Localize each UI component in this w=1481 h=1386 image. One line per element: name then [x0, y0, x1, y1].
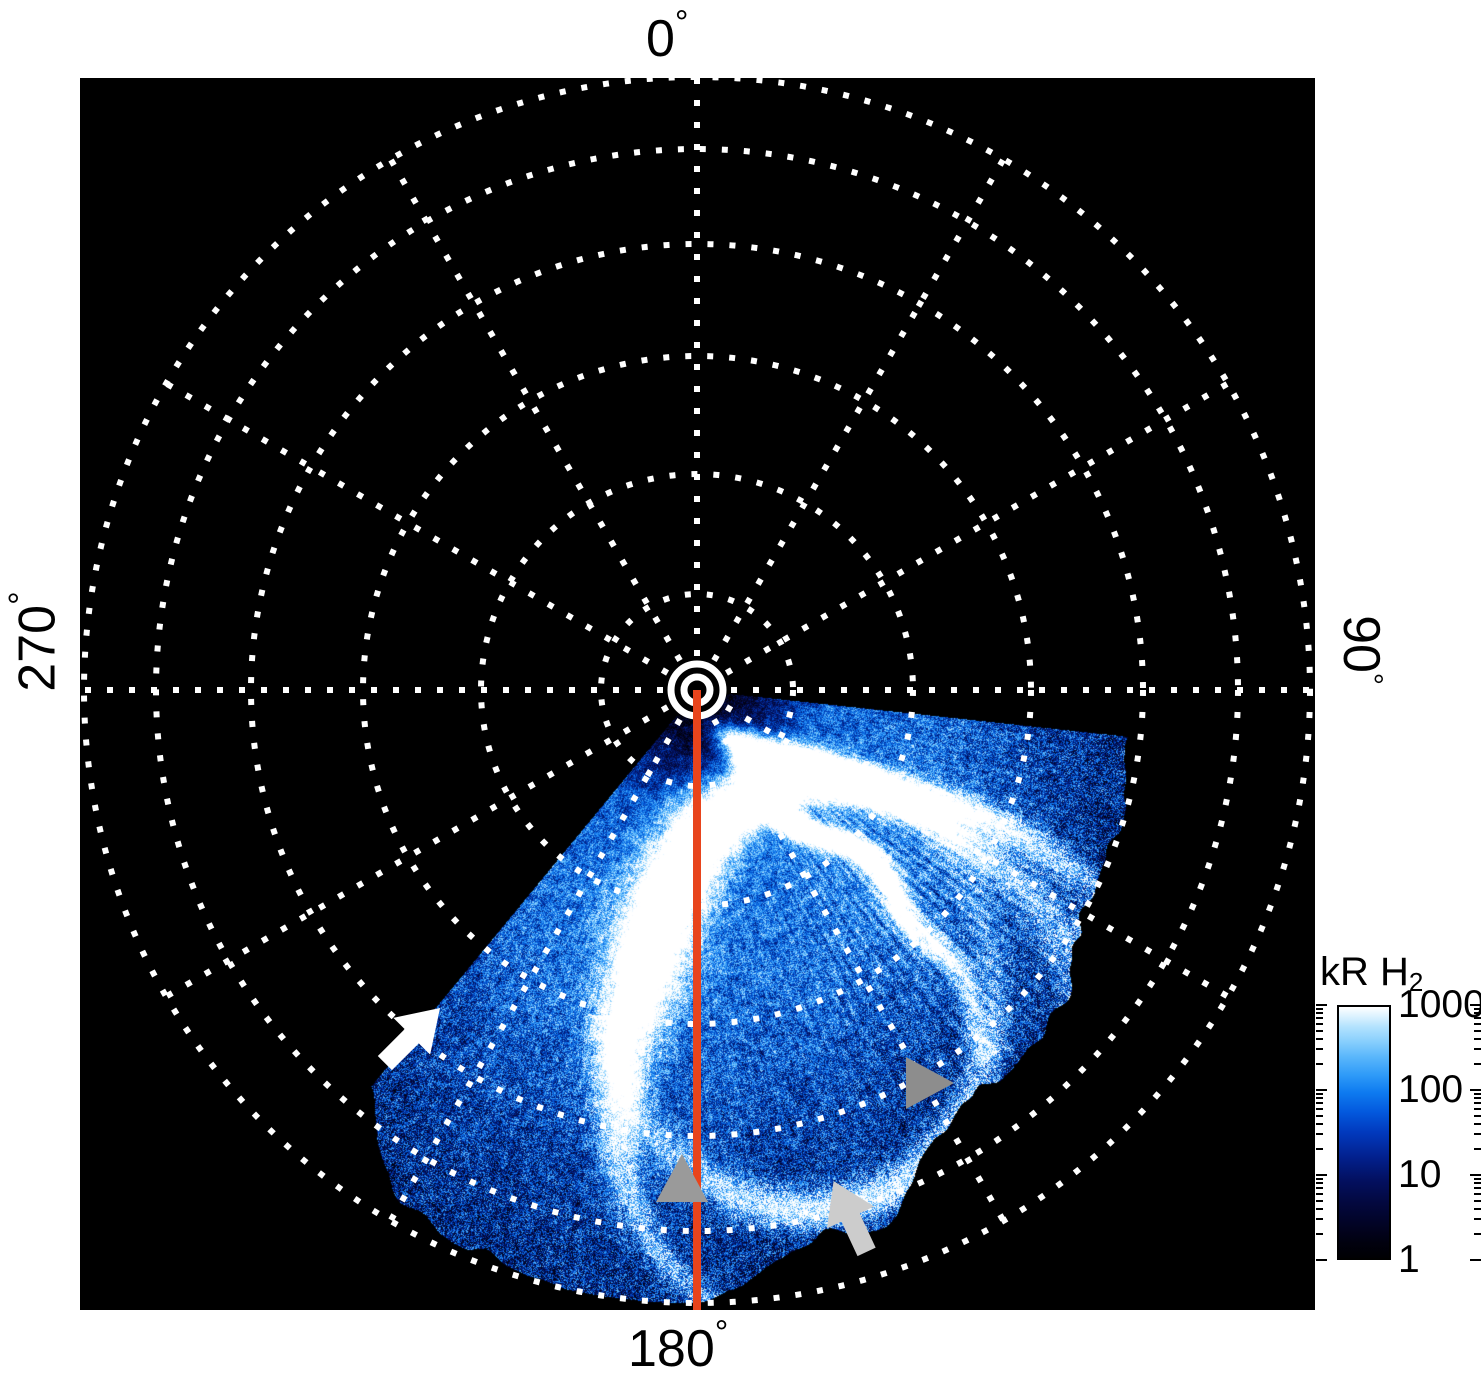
colorbar-minor-tick [1316, 1133, 1323, 1135]
colorbar-minor-tick [1316, 1030, 1323, 1032]
axis-label-270deg: 270° [5, 591, 64, 691]
colorbar-major-tick [1470, 1174, 1481, 1176]
colorbar-minor-tick [1474, 1063, 1481, 1065]
colorbar-minor-tick [1474, 1208, 1481, 1210]
colorbar-tick-label: 1000 [1398, 985, 1481, 1024]
colorbar-minor-tick [1474, 1115, 1481, 1117]
colorbar-minor-tick [1474, 1108, 1481, 1110]
colorbar-minor-tick [1474, 1193, 1481, 1195]
colorbar-minor-tick [1474, 1038, 1481, 1040]
colorbar-major-tick [1316, 1174, 1327, 1176]
colorbar-tick-label: 1 [1398, 1240, 1420, 1279]
colorbar-minor-tick [1316, 1208, 1323, 1210]
colorbar-minor-tick [1474, 1148, 1481, 1150]
colorbar-minor-tick [1316, 1182, 1323, 1184]
colorbar-minor-tick [1316, 1178, 1323, 1180]
colorbar-minor-tick [1316, 1102, 1323, 1104]
figure-root: 0° 180° 270° 90° kR H2 1000100101 [0, 0, 1481, 1386]
colorbar-minor-tick [1474, 1048, 1481, 1050]
colorbar-minor-tick [1474, 1178, 1481, 1180]
colorbar-major-tick [1316, 1259, 1327, 1261]
colorbar-minor-tick [1316, 1017, 1323, 1019]
colorbar-minor-tick [1316, 1008, 1323, 1010]
colorbar-minor-tick [1316, 1123, 1323, 1125]
colorbar: kR H2 1000100101 [1316, 950, 1481, 1330]
colorbar-minor-tick [1316, 1108, 1323, 1110]
colorbar-box [1337, 1005, 1391, 1260]
axis-label-90deg: 90° [1335, 615, 1387, 685]
colorbar-minor-tick [1316, 1023, 1323, 1025]
colorbar-minor-tick [1474, 1200, 1481, 1202]
colorbar-minor-tick [1474, 1133, 1481, 1135]
colorbar-minor-tick [1316, 1038, 1323, 1040]
colorbar-minor-tick [1316, 1193, 1323, 1195]
colorbar-minor-tick [1474, 1218, 1481, 1220]
axis-label-180deg: 180° [628, 1316, 728, 1375]
colorbar-minor-tick [1474, 1123, 1481, 1125]
polar-plot-panel [80, 78, 1315, 1310]
colorbar-minor-tick [1316, 1218, 1323, 1220]
colorbar-major-tick [1316, 1004, 1327, 1006]
colorbar-tick-label: 10 [1398, 1155, 1441, 1194]
colorbar-minor-tick [1316, 1012, 1323, 1014]
colorbar-gradient [1339, 1007, 1389, 1258]
colorbar-minor-tick [1316, 1048, 1323, 1050]
colorbar-minor-tick [1316, 1093, 1323, 1095]
colorbar-minor-tick [1474, 1093, 1481, 1095]
polar-plot-canvas [80, 78, 1315, 1310]
colorbar-minor-tick [1474, 1187, 1481, 1189]
colorbar-minor-tick [1316, 1097, 1323, 1099]
colorbar-minor-tick [1316, 1148, 1323, 1150]
colorbar-minor-tick [1474, 1182, 1481, 1184]
colorbar-minor-tick [1474, 1097, 1481, 1099]
colorbar-minor-tick [1474, 1233, 1481, 1235]
colorbar-minor-tick [1316, 1115, 1323, 1117]
colorbar-minor-tick [1474, 1102, 1481, 1104]
colorbar-minor-tick [1316, 1200, 1323, 1202]
colorbar-minor-tick [1316, 1187, 1323, 1189]
colorbar-minor-tick [1474, 1030, 1481, 1032]
colorbar-minor-tick [1316, 1063, 1323, 1065]
colorbar-major-tick [1470, 1089, 1481, 1091]
colorbar-major-tick [1316, 1089, 1327, 1091]
colorbar-minor-tick [1316, 1233, 1323, 1235]
colorbar-major-tick [1470, 1259, 1481, 1261]
axis-label-0deg: 0° [646, 6, 689, 65]
colorbar-tick-label: 100 [1398, 1070, 1463, 1109]
